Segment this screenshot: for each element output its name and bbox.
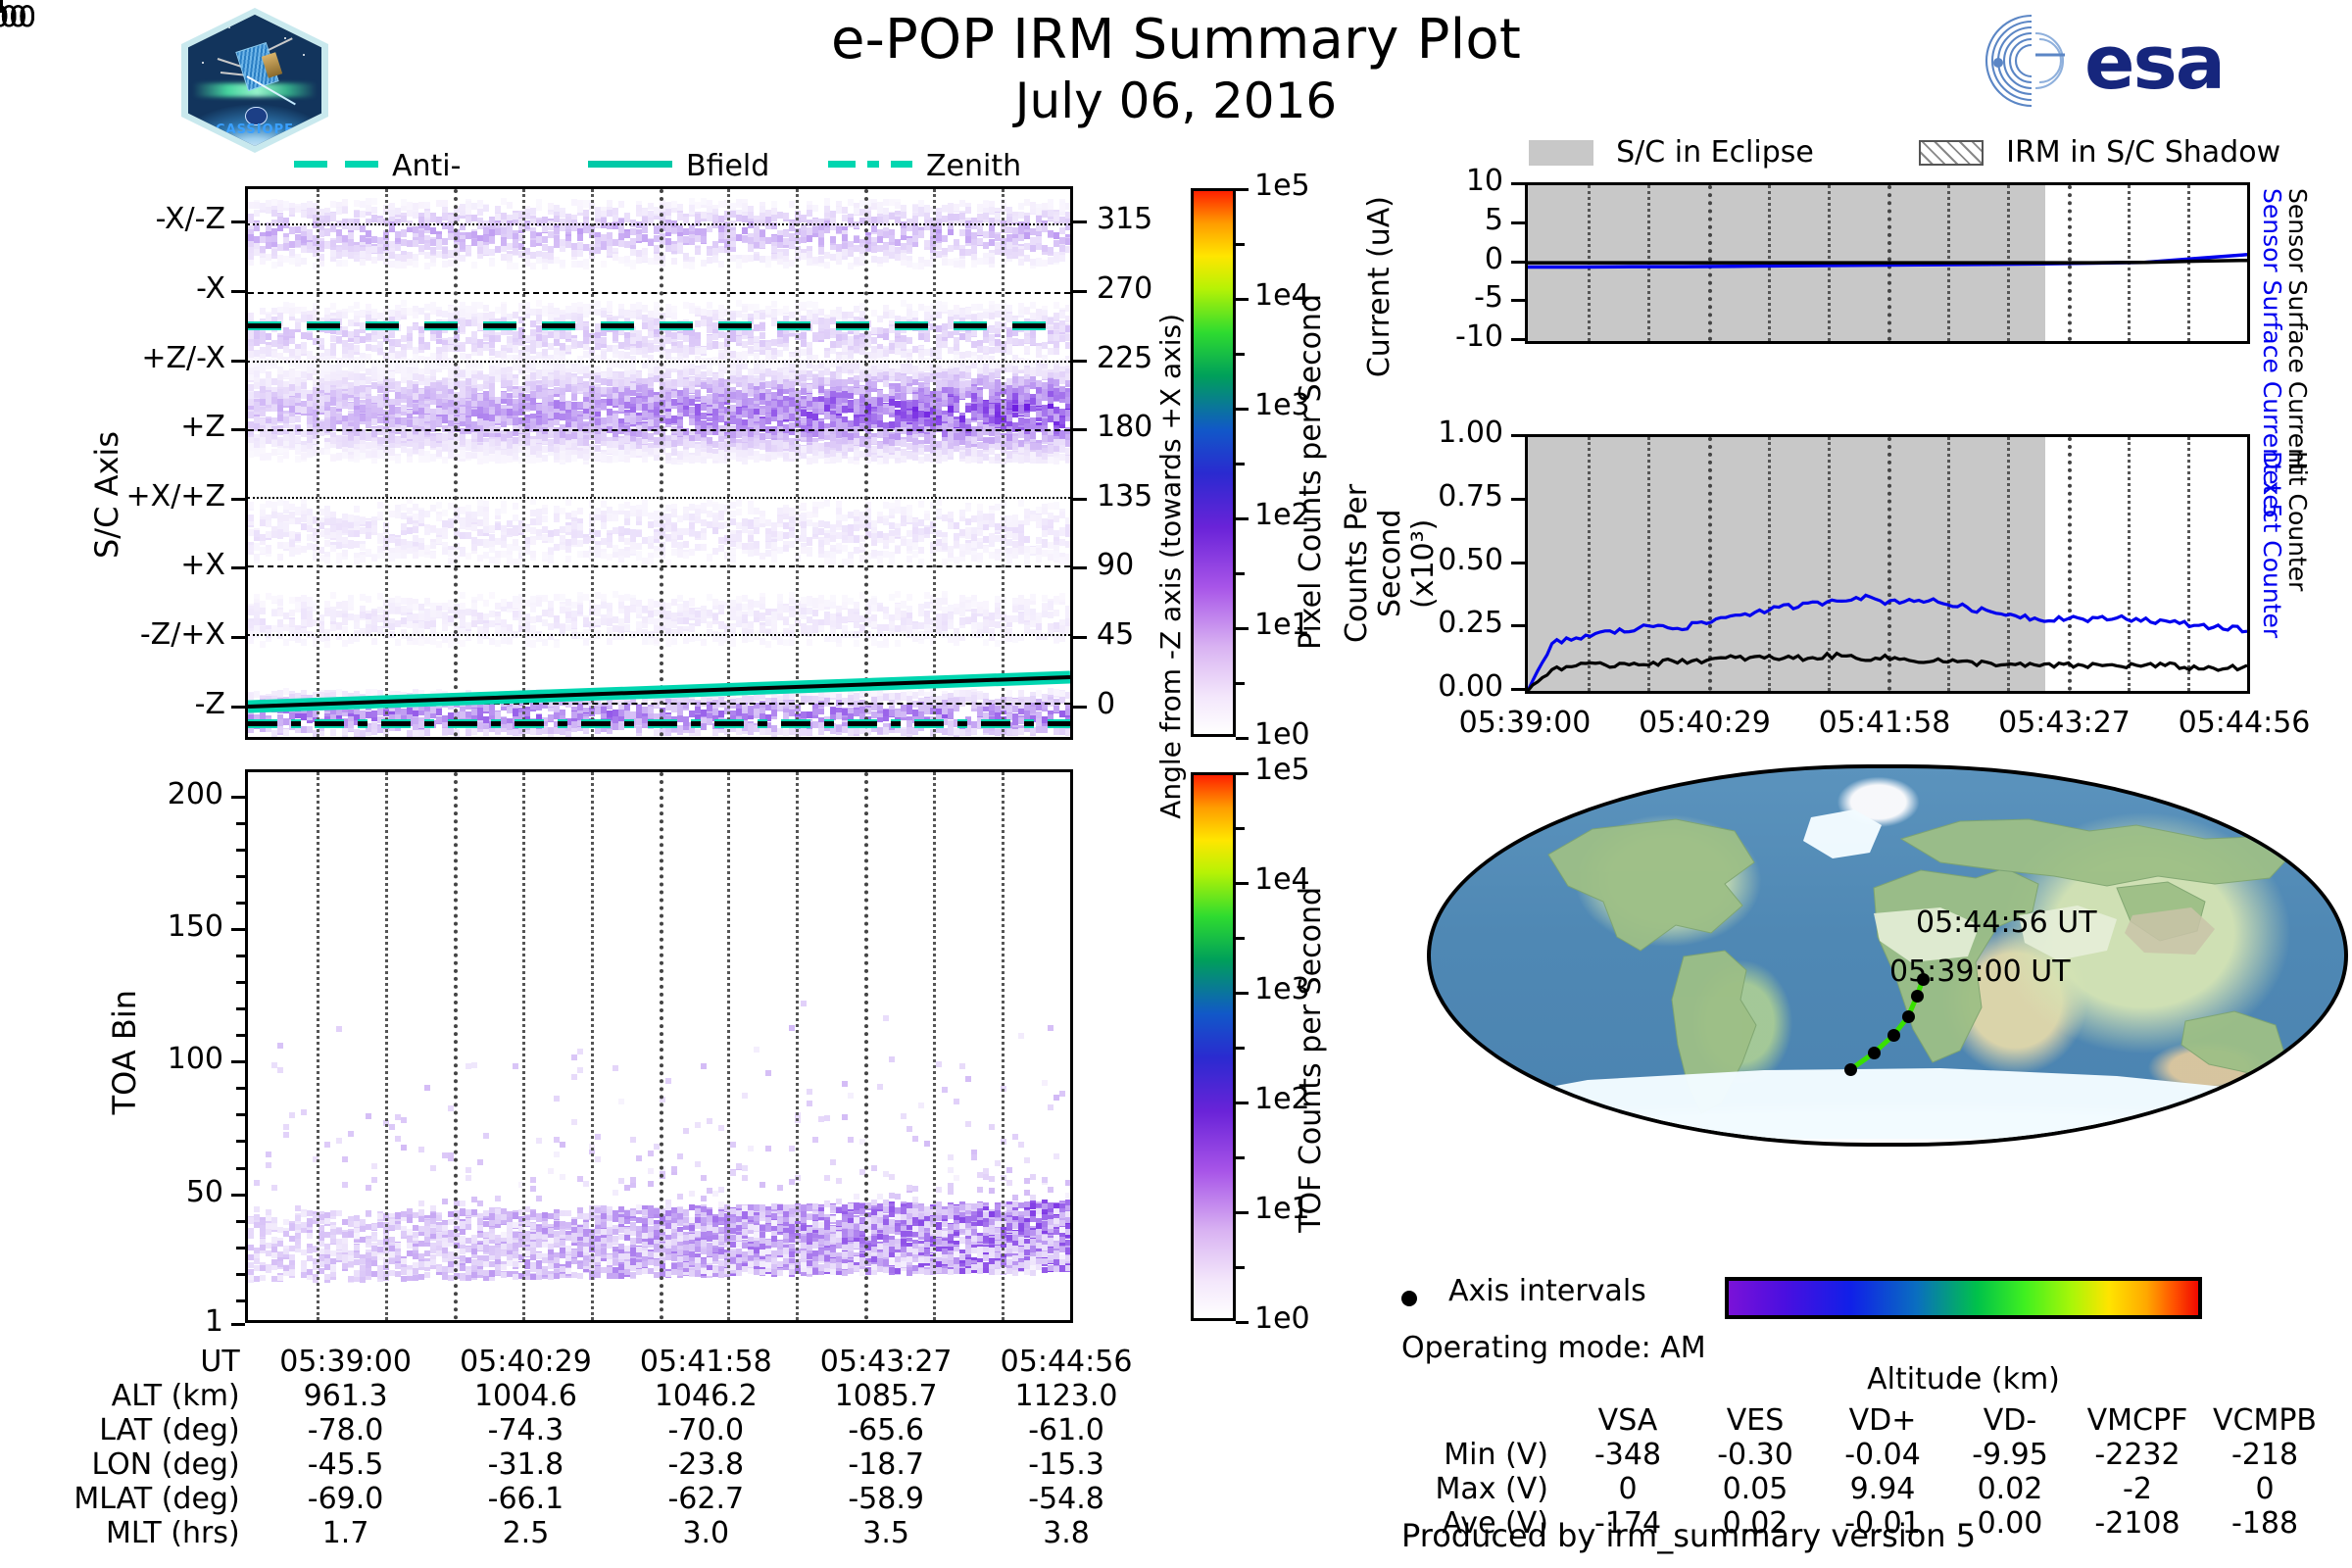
footer-produced-by: Produced by irm_summary version 5 [1401,1517,1976,1554]
cb1-tick-label-5: 1e5 [1254,169,1310,203]
angle-axis-label: Angle from -Z axis (towards +X axis) [1154,314,1187,819]
ephemeris-cell-3-3: -18.7 [796,1447,976,1482]
sc-axis-ytick-3 [231,428,245,431]
cb1-tick-1 [1236,627,1249,630]
p4-ytick-3 [1511,498,1525,501]
toa-yminor-10 [236,1299,245,1302]
altitude-colorbar-title: Altitude (km) [1725,1362,2202,1396]
anti-ram-line-icon [294,161,378,168]
ephemeris-row-label-2: LAT (deg) [69,1413,256,1447]
voltage-cell-2-4: -2108 [2074,1506,2201,1541]
toa-yminor-70 [236,1140,245,1143]
sc-axis-ytick-label-3: +Z [180,410,225,444]
toa-vgridline [591,772,594,1320]
ephemeris-row-label-1: ALT (km) [69,1379,256,1413]
map-continents [1431,768,2344,1143]
p4-ytick-label-0: 0.00 [1438,669,1503,704]
p4-ytick-0 [1511,688,1525,691]
cb1-tick-3 [1236,408,1249,411]
cb1-minor-3 [1236,353,1245,356]
tof-counts-colorbar-title-wrap: TOF Counts per Second [1294,887,1328,1233]
ephemeris-row: UT05:39:0005:40:2905:41:5805:43:2705:44:… [69,1345,1156,1379]
bfield-trace [248,189,1070,737]
orbit-track-marker-0 [1844,1063,1857,1076]
sc-axis-ytick-label-2: +Z/-X [141,341,225,375]
voltage-header-row: VSAVESVD+VD-VMCPFVCMPB [1401,1403,2328,1438]
toa-ytick-4 [231,796,245,799]
angle-ytick-label-2: 225 [1097,341,1152,375]
ephemeris-row-label-4: MLAT (deg) [69,1482,256,1516]
counts-xtick-label-2: 05:41:58 [1819,706,1951,740]
sc-axis-ytick-label-7: -Z [195,687,225,721]
cb1-tick-5 [1236,188,1249,191]
angle-axis-label-wrap: Angle from -Z axis (towards +X axis) [1154,314,1187,819]
counts-right-label-black: Hit Counter [2283,451,2312,591]
voltage-row-label-0: Min (V) [1401,1438,1564,1472]
ephemeris-cell-2-1: -74.3 [436,1413,616,1447]
p3-ytick-0 [1511,338,1525,341]
ephemeris-cell-4-0: -69.0 [256,1482,436,1516]
voltage-col-header-0: VSA [1564,1403,1691,1438]
ephemeris-cell-0-0: 05:39:00 [256,1345,436,1379]
cb2-tick-5 [1236,772,1249,775]
toa-vgridline [864,772,868,1320]
cb2-minor-3 [1236,937,1245,940]
orbit-ground-track-map: 05:44:56 UT 05:39:00 UT [1427,764,2348,1147]
voltage-col-header-4: VMCPF [2074,1403,2201,1438]
pixel-counts-colorbar [1191,188,1236,737]
p3-ytick-label-2: 0 [1485,242,1503,276]
p4-ytick-label-4: 1.00 [1438,416,1503,450]
cb1-minor-4 [1236,243,1245,246]
ephemeris-row: LAT (deg)-78.0-74.3-70.0-65.6-61.0 [69,1413,1156,1447]
cb2-tick-2 [1236,1102,1249,1104]
toa-vgridline [1002,772,1004,1320]
angle-ytick-4 [1073,498,1087,501]
ephemeris-cell-1-0: 961.3 [256,1379,436,1413]
toa-yminor-120 [236,1007,245,1010]
altitude-tick-label-5: 1400 [0,0,36,33]
ephemeris-cell-2-3: -65.6 [796,1413,976,1447]
ephemeris-row-label-0: UT [69,1345,256,1379]
voltage-cell-0-0: -348 [1564,1438,1691,1472]
toa-yminor-90 [236,1087,245,1090]
toa-vgridline [317,772,319,1320]
angle-ytick-1 [1073,290,1087,293]
toa-vgridline [660,772,663,1320]
ephemeris-cell-2-4: -61.0 [976,1413,1156,1447]
shadow-hatch-icon [1919,140,1984,166]
counts-ylabel: Counts Per Second (x10³) [1341,461,1441,666]
tof-counts-colorbar-title: TOF Counts per Second [1294,887,1328,1233]
voltage-row-label-1: Max (V) [1401,1472,1564,1506]
toa-yminor-30 [236,1247,245,1249]
toa-vgridline [727,772,730,1320]
voltage-cell-1-1: 0.05 [1691,1472,1819,1506]
cassiope-mission-patch: CASSIOPE [181,8,328,153]
angle-ytick-label-1: 270 [1097,271,1152,306]
sc-axis-ytick-label-4: +X/+Z [126,479,225,514]
ephemeris-cell-5-3: 3.5 [796,1516,976,1550]
legend-label-bfield: Bfield [686,149,769,183]
counts-right-label-blue-wrap: Detect Counter [2258,451,2286,638]
counts-xtick-label-0: 05:39:00 [1459,706,1592,740]
voltage-row: Min (V)-348-0.30-0.04-9.95-2232-218 [1401,1438,2328,1472]
ephemeris-cell-4-1: -66.1 [436,1482,616,1516]
sc-axis-spectrogram-panel [245,186,1073,740]
toa-yminor-20 [236,1273,245,1276]
ephemeris-table: UT05:39:0005:40:2905:41:5805:43:2705:44:… [69,1345,1156,1550]
angle-ytick-5 [1073,566,1087,569]
cb2-tick-label-5: 1e5 [1254,753,1310,787]
ephemeris-row-label-3: LON (deg) [69,1447,256,1482]
cb1-tick-0 [1236,737,1249,740]
voltage-col-header-2: VD+ [1819,1403,1946,1438]
eclipse-legend: S/C in Eclipse IRM in S/C Shadow [1529,135,2352,169]
sc-axis-ytick-0 [231,220,245,223]
angle-ytick-0 [1073,220,1087,223]
p4-ytick-label-3: 0.75 [1438,479,1503,514]
legend-label-sc-eclipse: S/C in Eclipse [1616,135,1814,170]
pixel-counts-colorbar-title-wrap: Pixel Counts per Second [1294,294,1328,650]
angle-ytick-6 [1073,636,1087,639]
ephemeris-cell-3-1: -31.8 [436,1447,616,1482]
p4-ytick-1 [1511,624,1525,627]
sc-axis-ytick-label-1: -X [196,271,225,306]
ephemeris-row-label-5: MLT (hrs) [69,1516,256,1550]
toa-yminor-60 [236,1167,245,1170]
spectrogram-legend: Anti-ram Bfield Zenith [294,147,1039,182]
toa-ytick-label-0: 1 [205,1304,223,1339]
axis-interval-dot-icon [1401,1291,1417,1306]
angle-ytick-label-3: 180 [1097,410,1152,444]
ephemeris-cell-5-2: 3.0 [615,1516,796,1550]
toa-ytick-label-2: 100 [168,1042,223,1076]
toa-ytick-label-1: 50 [186,1175,223,1209]
ephemeris-cell-5-1: 2.5 [436,1516,616,1550]
ephemeris-cell-3-2: -23.8 [615,1447,796,1482]
ephemeris-cell-1-2: 1046.2 [615,1379,796,1413]
cb2-tick-1 [1236,1211,1249,1214]
voltage-cell-1-0: 0 [1564,1472,1691,1506]
sc-axis-ytick-4 [231,498,245,501]
current-right-label-black: Sensor Surface Current [2283,188,2312,473]
angle-ytick-label-7: 0 [1097,687,1115,721]
toa-vgridline [933,772,936,1320]
angle-ytick-2 [1073,360,1087,363]
voltage-col-header-3: VD- [1946,1403,2074,1438]
sc-axis-ytick-label-6: -Z/+X [140,617,225,652]
p4-ytick-2 [1511,562,1525,564]
orbit-track-marker-3 [1902,1010,1915,1023]
voltage-cell-1-3: 0.02 [1946,1472,2074,1506]
ephemeris-row: ALT (km)961.31004.61046.21085.71123.0 [69,1379,1156,1413]
p4-ytick-4 [1511,434,1525,437]
map-label-end-time: 05:44:56 UT [1916,906,2097,940]
cb2-tick-3 [1236,992,1249,995]
current-ylabel-wrap: Current (uA) [1362,196,1396,377]
toa-yminor-140 [236,955,245,957]
ephemeris-cell-0-4: 05:44:56 [976,1345,1156,1379]
sc-axis-ylabel-wrap: S/C Axis [88,431,125,559]
cb1-minor-0 [1236,682,1245,685]
counts-xtick-label-1: 05:40:29 [1639,706,1771,740]
toa-ytick-label-3: 150 [168,909,223,944]
ephemeris-cell-5-4: 3.8 [976,1516,1156,1550]
angle-ytick-3 [1073,428,1087,431]
axis-interval-legend-label: Axis intervals [1448,1274,1646,1308]
angle-ytick-7 [1073,706,1087,709]
bfield-line-icon [588,161,672,168]
voltage-cell-0-4: -2232 [2074,1438,2201,1472]
zenith-line-icon [828,161,912,168]
p3-ytick-label-0: -10 [1455,319,1503,354]
toa-vgridline [454,772,458,1320]
toa-yminor-190 [236,822,245,825]
sc-axis-ytick-6 [231,636,245,639]
toa-yminor-180 [236,849,245,852]
angle-ytick-label-5: 90 [1097,548,1134,582]
counts-per-second-panel [1525,434,2250,694]
p3-ytick-4 [1511,182,1525,185]
counts-xtick-label-3: 05:43:27 [1998,706,2131,740]
toa-yminor-130 [236,981,245,984]
p4-ytick-label-1: 0.25 [1438,606,1503,640]
sensor-current-panel [1525,182,2250,344]
ephemeris-cell-2-2: -70.0 [615,1413,796,1447]
cb1-tick-label-0: 1e0 [1254,717,1310,752]
toa-ytick-1 [231,1194,245,1197]
angle-ytick-label-0: 315 [1097,202,1152,236]
counts-right-label-black-wrap: Hit Counter [2283,451,2312,591]
cb2-tick-label-0: 1e0 [1254,1301,1310,1336]
counts-ylabel-wrap: Counts Per Second (x10³) [1341,461,1399,666]
orbit-track-marker-4 [1911,990,1924,1003]
cb2-minor-1 [1236,1156,1245,1159]
sc-axis-ytick-1 [231,290,245,293]
toa-vgridline [385,772,388,1320]
ephemeris-cell-0-1: 05:40:29 [436,1345,616,1379]
ephemeris-cell-4-4: -54.8 [976,1482,1156,1516]
ephemeris-cell-1-3: 1085.7 [796,1379,976,1413]
sc-axis-ytick-7 [231,706,245,709]
toa-vgridline [796,772,799,1320]
cb2-tick-0 [1236,1321,1249,1324]
cb1-tick-2 [1236,517,1249,520]
ephemeris-cell-2-0: -78.0 [256,1413,436,1447]
voltage-header-corner [1401,1403,1564,1438]
cb2-minor-0 [1236,1266,1245,1269]
ephemeris-cell-4-3: -58.9 [796,1482,976,1516]
current-ylabel: Current (uA) [1362,196,1396,377]
legend-label-zenith: Zenith [926,149,1021,183]
altitude-colorbar [1725,1277,2202,1319]
toa-ytick-3 [231,928,245,931]
p3-ytick-2 [1511,261,1525,264]
counts-xtick-label-4: 05:44:56 [2179,706,2311,740]
eclipse-swatch-icon [1529,140,1593,166]
cb2-minor-2 [1236,1047,1245,1050]
toa-yminor-40 [236,1220,245,1223]
pixel-counts-colorbar-title: Pixel Counts per Second [1294,294,1328,650]
voltage-cell-0-2: -0.04 [1819,1438,1946,1472]
p4-ytick-label-2: 0.50 [1438,543,1503,577]
ephemeris-cell-5-0: 1.7 [256,1516,436,1550]
ephemeris-row: MLAT (deg)-69.0-66.1-62.7-58.9-54.8 [69,1482,1156,1516]
toa-ytick-0 [231,1323,245,1326]
ephemeris-cell-3-0: -45.5 [256,1447,436,1482]
legend-label-irm-shadow: IRM in S/C Shadow [2006,135,2280,170]
map-label-start-time: 05:39:00 UT [1889,955,2071,989]
orbit-track-marker-2 [1887,1029,1900,1042]
legend-item-irm-shadow: IRM in S/C Shadow [1919,135,2280,170]
cb1-minor-2 [1236,463,1245,465]
toa-ytick-2 [231,1060,245,1063]
toa-yminor-80 [236,1113,245,1116]
sc-axis-ytick-5 [231,566,245,569]
anti-ram-trace-core [248,323,1070,328]
ephemeris-cell-4-2: -62.7 [615,1482,796,1516]
angle-ytick-label-4: 135 [1097,479,1152,514]
p3-ytick-1 [1511,299,1525,302]
operating-mode-label: Operating mode: AM [1401,1331,1706,1365]
p3-ytick-label-4: 10 [1466,164,1503,198]
voltage-cell-1-2: 9.94 [1819,1472,1946,1506]
voltage-cell-1-4: -2 [2074,1472,2201,1506]
toa-yminor-110 [236,1034,245,1037]
toa-ytick-label-4: 200 [168,777,223,811]
counts-right-label-blue: Detect Counter [2258,451,2286,638]
esa-logo: esa [1975,10,2249,118]
voltage-cell-0-5: -218 [2201,1438,2328,1472]
ephemeris-cell-3-4: -15.3 [976,1447,1156,1482]
angle-ytick-label-6: 45 [1097,617,1134,652]
cb1-minor-1 [1236,572,1245,575]
sc-axis-ytick-2 [231,360,245,363]
sc-axis-ytick-label-0: -X/-Z [156,202,225,236]
esa-emblem-icon [1975,10,2081,112]
voltage-cell-1-5: 0 [2201,1472,2328,1506]
esa-wordmark: esa [2084,25,2224,100]
ephemeris-row: MLT (hrs)1.72.53.03.53.8 [69,1516,1156,1550]
tof-counts-colorbar [1191,772,1236,1321]
sc-axis-ylabel: S/C Axis [88,431,125,559]
p3-ytick-label-3: 5 [1485,203,1503,237]
voltage-cell-0-3: -9.95 [1946,1438,2074,1472]
toa-vgridline [522,772,525,1320]
ephemeris-cell-1-4: 1123.0 [976,1379,1156,1413]
voltage-cell-2-5: -188 [2201,1506,2328,1541]
ephemeris-cell-0-2: 05:41:58 [615,1345,796,1379]
orbit-track-marker-1 [1868,1047,1881,1059]
p3-ytick-3 [1511,221,1525,224]
toa-yminor-160 [236,902,245,905]
cb2-tick-4 [1236,882,1249,885]
cb1-tick-4 [1236,298,1249,301]
voltage-cell-0-1: -0.30 [1691,1438,1819,1472]
toa-yminor-170 [236,875,245,878]
sc-axis-ytick-label-5: +X [180,548,225,582]
ephemeris-cell-0-3: 05:43:27 [796,1345,976,1379]
ephemeris-cell-1-1: 1004.6 [436,1379,616,1413]
toa-bin-spectrogram-panel [245,769,1073,1323]
p3-ytick-label-1: -5 [1474,280,1503,315]
toa-bin-ylabel: TOA Bin [106,990,143,1114]
ephemeris-row: LON (deg)-45.5-31.8-23.8-18.7-15.3 [69,1447,1156,1482]
legend-item-sc-eclipse: S/C in Eclipse [1529,135,1814,170]
current-right-label-black-wrap: Sensor Surface Current [2283,188,2312,473]
cb2-minor-4 [1236,827,1245,830]
voltage-row: Max (V)00.059.940.02-20 [1401,1472,2328,1506]
voltage-col-header-5: VCMPB [2201,1403,2328,1438]
toa-ylabel-wrap: TOA Bin [106,990,143,1114]
voltage-col-header-1: VES [1691,1403,1819,1438]
zenith-trace-core [248,721,1070,726]
